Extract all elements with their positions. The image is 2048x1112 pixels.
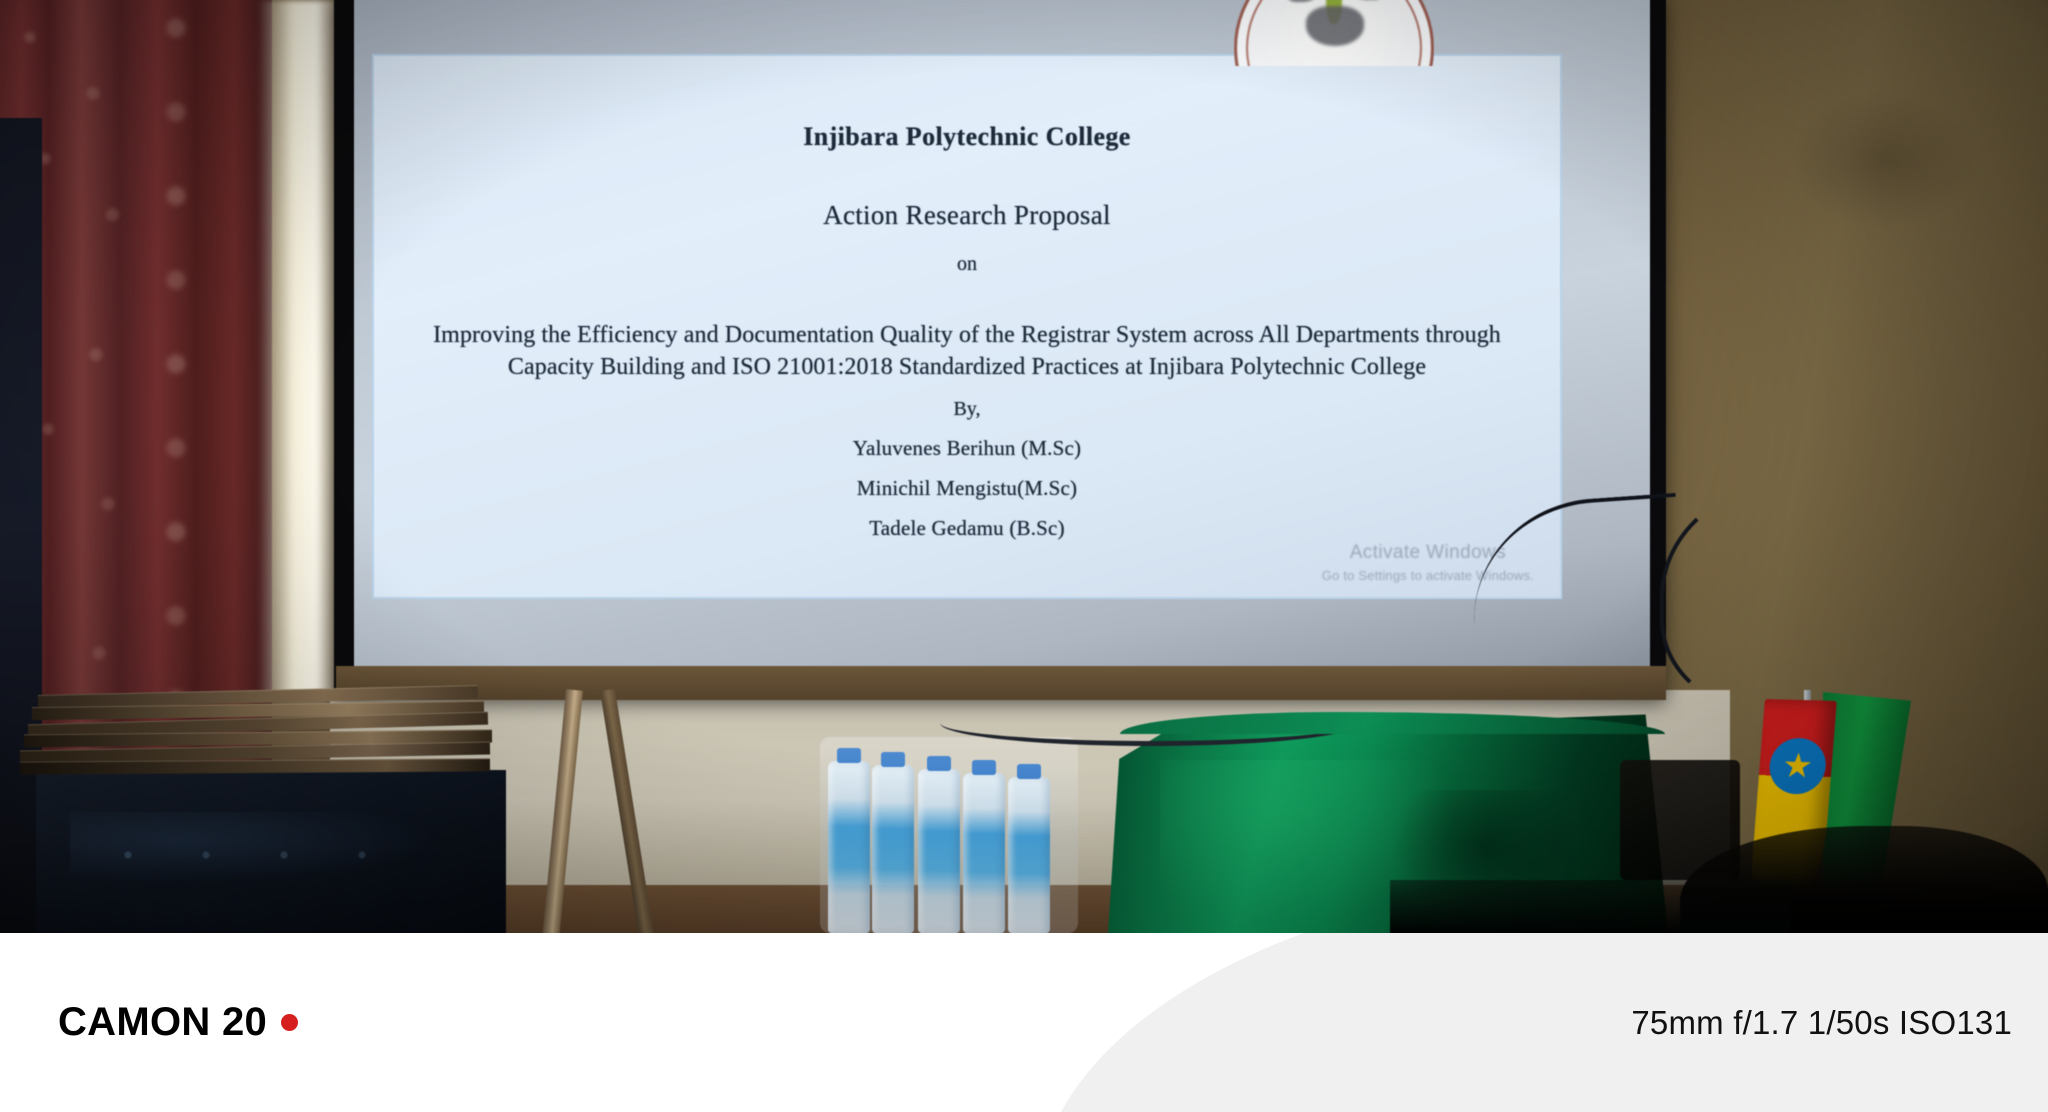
window-light-gap — [258, 0, 336, 700]
photograph: Injibara Polytechnic College Action Rese… — [0, 0, 2048, 933]
cabinet-highlight — [70, 812, 430, 882]
water-bottle-pack — [826, 745, 1074, 933]
slide-research-title: Improving the Efficiency and Documentati… — [412, 320, 1522, 384]
banner-device-group: CAMON 20 — [58, 933, 298, 1112]
projector-cable-on-wall — [1660, 482, 1920, 712]
slide-institution: Injibara Polytechnic College — [412, 122, 1522, 152]
slide-content: Injibara Polytechnic College Action Rese… — [374, 56, 1560, 597]
exif-info-label: 75mm f/1.7 1/50s ISO131 — [1631, 1004, 2012, 1042]
projection-screen-frame: Injibara Polytechnic College Action Rese… — [334, 0, 1666, 698]
slide-connector: on — [412, 253, 1522, 276]
cabinet-control-lights — [110, 850, 410, 860]
slide-author-2: Minichil Mengistu(M.Sc) — [412, 476, 1522, 501]
foreground-shadow-bottom — [1390, 880, 1790, 933]
slide-author-1: Yaluvenes Berihun (M.Sc) — [412, 436, 1522, 461]
device-name-label: CAMON 20 — [58, 1000, 267, 1045]
projection-screen-surface: Injibara Polytechnic College Action Rese… — [354, 0, 1650, 670]
seal-caption: Injibara Poly Technic College — [1234, 0, 1434, 66]
slide-by-label: By, — [412, 398, 1522, 421]
bottle-plastic-wrap — [820, 737, 1078, 933]
book — [20, 758, 490, 774]
camera-watermark-banner: CAMON 20 75mm f/1.7 1/50s ISO131 — [0, 933, 2048, 1112]
screenshot-root: Injibara Polytechnic College Action Rese… — [0, 0, 2048, 1112]
slide-author-3: Tadele Gedamu (B.Sc) — [412, 516, 1522, 541]
slide-document-type: Action Research Proposal — [412, 200, 1522, 231]
college-seal-icon: Injibara Poly Technic College — [1234, 0, 1434, 66]
banner-exif-group: 75mm f/1.7 1/50s ISO131 — [1631, 933, 2012, 1112]
presentation-slide: Injibara Polytechnic College Action Rese… — [372, 54, 1562, 599]
easel-crossbar — [336, 666, 1666, 700]
stacked-books — [20, 690, 490, 782]
wall-smudge — [1790, 90, 1980, 230]
flag-blue-disc — [1768, 737, 1828, 794]
red-dot-icon — [281, 1014, 298, 1031]
